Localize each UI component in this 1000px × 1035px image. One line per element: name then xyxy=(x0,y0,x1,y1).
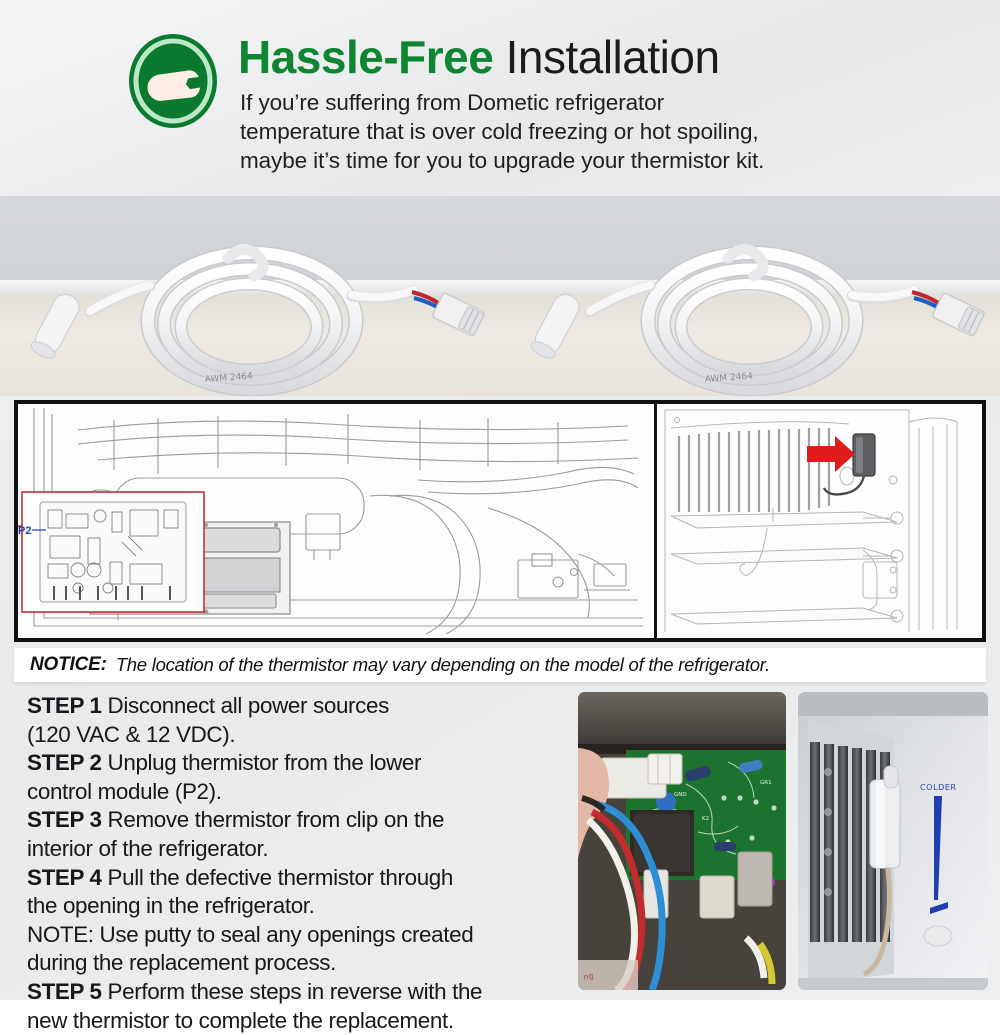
step-line: STEP 2 Unplug thermistor from the lower xyxy=(27,749,567,778)
svg-text:GND: GND xyxy=(674,792,687,798)
step-label: STEP 5 xyxy=(27,979,102,1004)
thermistor-cable-right: AWM 2464 xyxy=(500,196,1000,396)
p2-callout-label: P2 xyxy=(18,525,31,537)
notice-banner: NOTICE: The location of the thermistor m… xyxy=(14,648,986,682)
product-photo-band: AWM 2464 xyxy=(0,196,1000,396)
step-line: STEP 3 Remove thermistor from clip on th… xyxy=(27,806,567,835)
steps-list: STEP 1 Disconnect all power sources (120… xyxy=(27,692,567,1035)
step-line: STEP 1 Disconnect all power sources xyxy=(27,692,567,721)
diagram-section: P2 xyxy=(14,400,986,642)
step-text: new thermistor to complete the replaceme… xyxy=(27,1008,454,1033)
step-text: Pull the defective thermistor through xyxy=(108,865,454,890)
step-text: control module (P2). xyxy=(27,779,222,804)
step-label: STEP 4 xyxy=(27,865,102,890)
step-label: STEP 2 xyxy=(27,750,102,775)
thermistor-clip-graphic xyxy=(824,434,875,494)
step-text: (120 VAC & 12 VDC). xyxy=(27,722,235,747)
note-text: during the replacement process. xyxy=(27,950,336,975)
step-text: Disconnect all power sources xyxy=(108,693,389,718)
step-label: STEP 1 xyxy=(27,693,102,718)
svg-text:GR1: GR1 xyxy=(760,780,772,786)
step-line: (120 VAC & 12 VDC). xyxy=(27,721,567,750)
step-label: STEP 3 xyxy=(27,807,102,832)
step-text: the opening in the refrigerator. xyxy=(27,893,315,918)
note-text: NOTE: Use putty to seal any openings cre… xyxy=(27,922,473,947)
subtitle-block: If you’re suffering from Dometic refrige… xyxy=(240,88,960,175)
wrench-badge-icon xyxy=(127,32,219,130)
step-line: control module (P2). xyxy=(27,778,567,807)
step-line: STEP 5 Perform these steps in reverse wi… xyxy=(27,978,567,1007)
fridge-interior-photo: COLDER xyxy=(798,692,988,990)
title-highlight: Hassle-Free xyxy=(238,31,493,83)
page-title: Hassle-Free Installation xyxy=(238,28,720,86)
infographic-page: Hassle-Free Installation If you’re suffe… xyxy=(0,0,1000,1000)
step-line: STEP 4 Pull the defective thermistor thr… xyxy=(27,864,567,893)
cooling-unit-diagram: P2 xyxy=(18,404,657,638)
p2-callout-box: P2 xyxy=(18,488,208,616)
step-line: the opening in the refrigerator. xyxy=(27,892,567,921)
header-section: Hassle-Free Installation If you’re suffe… xyxy=(0,0,1000,196)
colder-label: COLDER xyxy=(920,783,957,792)
control-board-photo: DISPLAY P2 GND GR1 K2 xyxy=(578,692,786,990)
subtitle-line: maybe it’s time for you to upgrade your … xyxy=(240,146,960,175)
subtitle-line: temperature that is over cold freezing o… xyxy=(240,117,960,146)
subtitle-line: If you’re suffering from Dometic refrige… xyxy=(240,88,960,117)
notice-label: NOTICE: xyxy=(30,654,107,676)
step-line: new thermistor to complete the replaceme… xyxy=(27,1007,567,1035)
refrigerator-interior-diagram xyxy=(657,404,982,638)
step-text: Perform these steps in reverse with the xyxy=(108,979,483,1004)
thermistor-cable-left: AWM 2464 xyxy=(0,196,500,396)
svg-text:K2: K2 xyxy=(702,816,709,822)
step-text: interior of the refrigerator. xyxy=(27,836,268,861)
note-line: NOTE: Use putty to seal any openings cre… xyxy=(27,921,567,950)
step-line: interior of the refrigerator. xyxy=(27,835,567,864)
title-rest: Installation xyxy=(506,31,720,83)
step-text: Unplug thermistor from the lower xyxy=(108,750,422,775)
note-line: during the replacement process. xyxy=(27,949,567,978)
step-text: Remove thermistor from clip on the xyxy=(108,807,445,832)
notice-text: The location of the thermistor may vary … xyxy=(116,654,770,676)
